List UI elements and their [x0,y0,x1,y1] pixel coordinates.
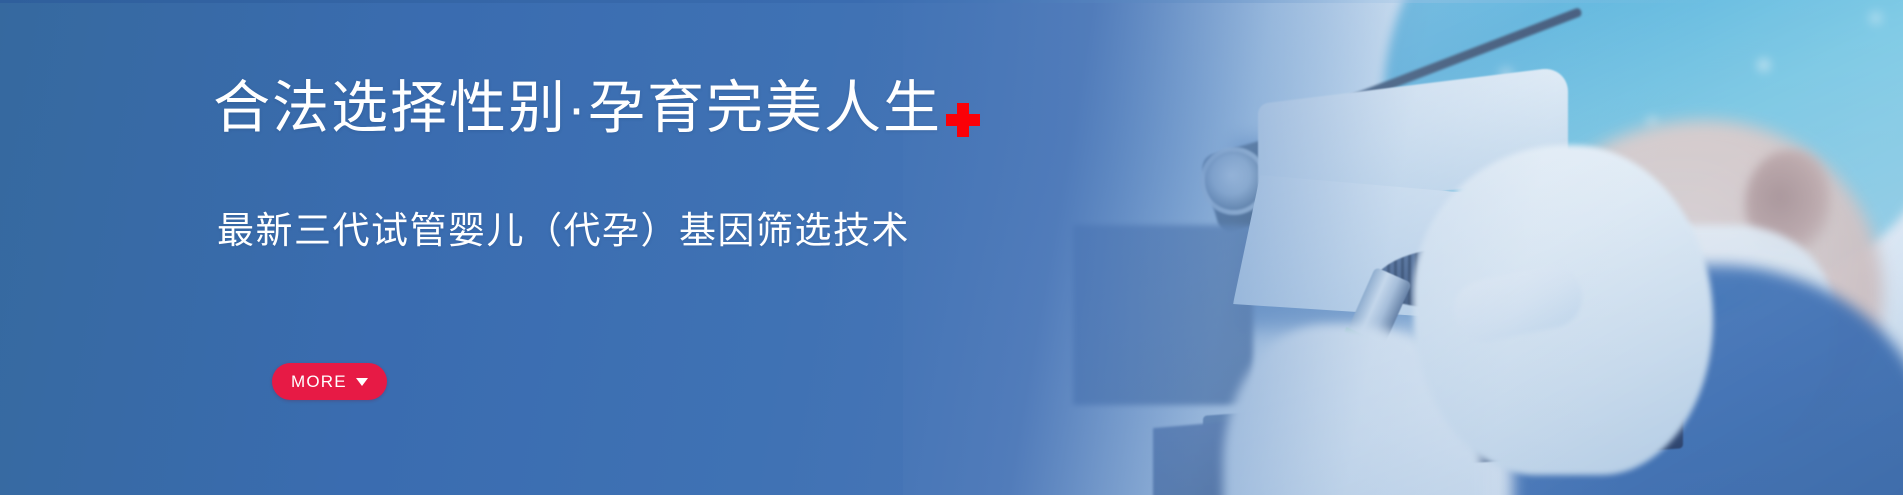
hero-banner: 合法选择性别·孕育完美人生 最新三代试管婴儿（代孕）基因筛选技术 MORE [0,0,1903,495]
caret-down-icon [356,378,368,386]
banner-content: 合法选择性别·孕育完美人生 最新三代试管婴儿（代孕）基因筛选技术 MORE [213,0,1213,495]
banner-subheadline: 最新三代试管婴儿（代孕）基因筛选技术 [217,207,910,255]
banner-headline: 合法选择性别·孕育完美人生 [213,77,980,141]
more-button[interactable]: MORE [272,363,387,400]
more-button-label: MORE [291,372,347,392]
medical-cross-icon [946,103,980,137]
headline-text: 合法选择性别·孕育完美人生 [213,77,942,141]
